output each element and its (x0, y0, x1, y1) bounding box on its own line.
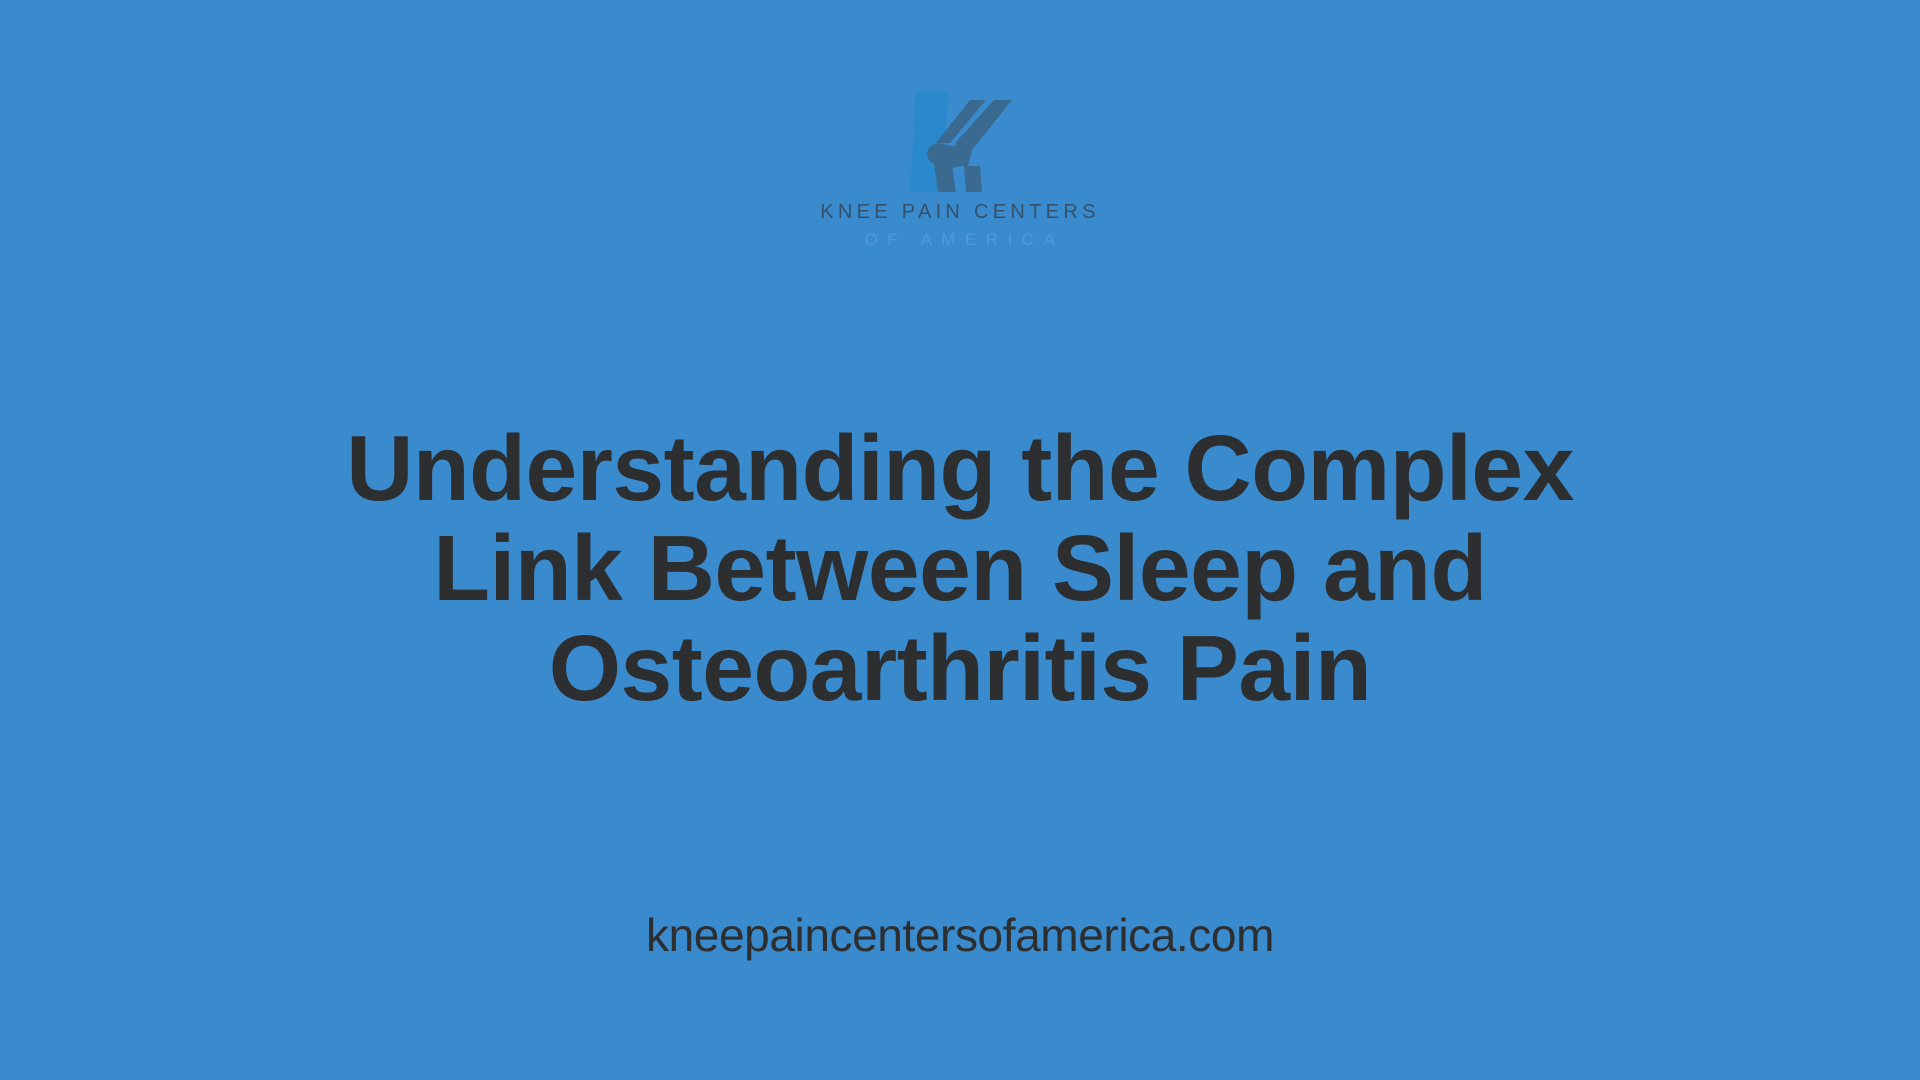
article-title: Understanding the ComplexLink Between Sl… (290, 418, 1630, 718)
site-url[interactable]: kneepaincentersofamerica.com (0, 912, 1920, 958)
knee-joint-k-logo-icon (890, 86, 1030, 198)
logo-sub-wordmark: OF AMERICA (856, 231, 1065, 248)
article-title-line-3: Osteoarthritis Pain (549, 616, 1372, 720)
article-title-line-2: Link Between Sleep and (433, 516, 1487, 620)
logo-wordmark: KNEE PAIN CENTERS (820, 202, 1099, 222)
article-share-card: KNEE PAIN CENTERS OF AMERICA Understandi… (0, 0, 1920, 1080)
site-url-block: kneepaincentersofamerica.com (0, 912, 1920, 958)
article-title-line-1: Understanding the Complex (346, 416, 1574, 520)
article-title-heading: Understanding the ComplexLink Between Sl… (290, 418, 1630, 718)
brand-logo-block: KNEE PAIN CENTERS OF AMERICA (0, 86, 1920, 248)
